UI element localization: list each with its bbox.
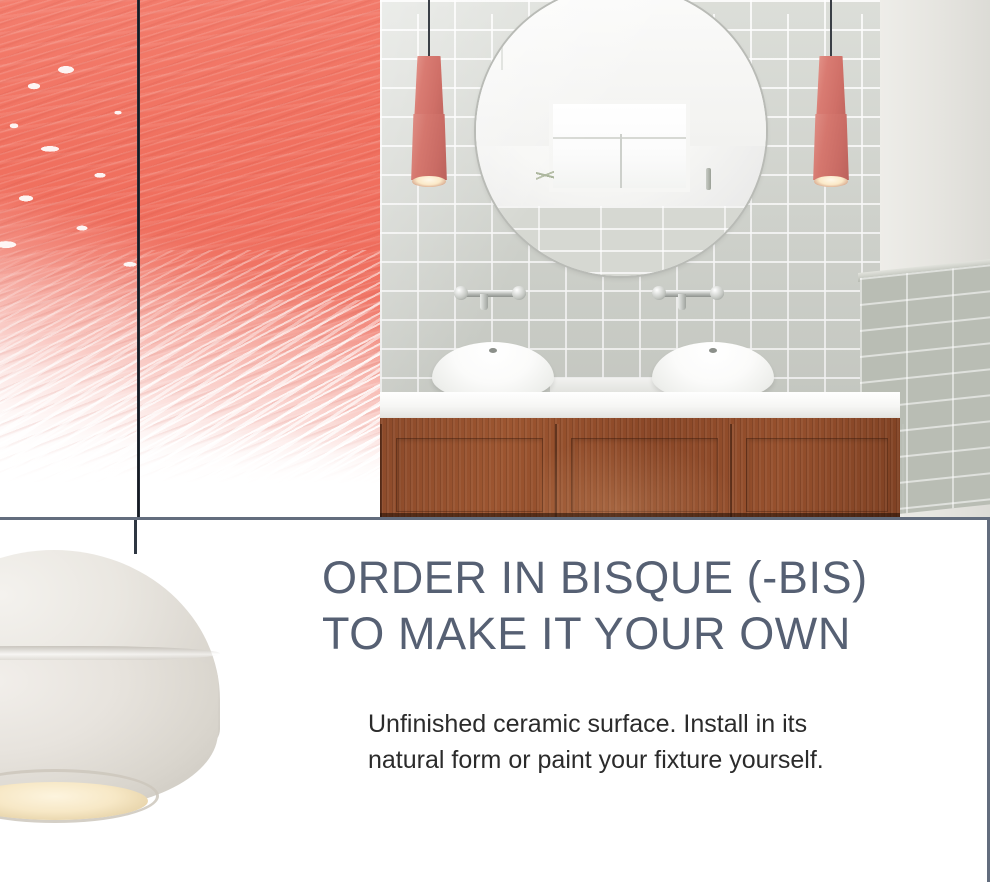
promo-text-block: ORDER IN BISQUE (-BIS) TO MAKE IT YOUR O…	[322, 550, 942, 778]
round-mirror	[476, 0, 766, 276]
wall-faucet-right	[652, 286, 724, 308]
bathroom-photo	[380, 0, 990, 518]
pendant-glow-rim	[412, 176, 446, 187]
pendant-cord-icon	[830, 0, 832, 58]
promo-page: ORDER IN BISQUE (-BIS) TO MAKE IT YOUR O…	[0, 0, 990, 882]
bisque-sphere-pendant	[0, 520, 228, 850]
horizontal-divider	[0, 517, 990, 520]
promo-body-line1: Unfinished ceramic surface. Install in i…	[322, 706, 942, 742]
walnut-vanity	[380, 418, 900, 518]
paint-fade-to-white	[0, 428, 380, 518]
pendant-shade-lower	[812, 114, 850, 180]
faucet-spout	[678, 294, 686, 310]
vanity-light-reflection	[540, 438, 740, 518]
faucet-spout	[480, 294, 488, 310]
pendant-cord-icon	[134, 518, 137, 554]
vanity-panel-inset	[746, 438, 888, 512]
mirror-mounting-bracket	[706, 168, 711, 190]
vanity-door-right	[730, 424, 904, 518]
faucet-handle-right	[710, 286, 724, 300]
pendant-shade-upper	[815, 56, 847, 118]
vanity-countertop	[380, 392, 900, 418]
bottom-content-row: ORDER IN BISQUE (-BIS) TO MAKE IT YOUR O…	[0, 520, 990, 882]
pendant-shade-lower	[410, 114, 448, 180]
page-title-line1: ORDER IN BISQUE (-BIS)	[322, 550, 942, 606]
text-spacer	[322, 662, 942, 706]
faucet-handle-right	[512, 286, 526, 300]
pendant-shade-upper	[413, 56, 445, 118]
pendant-diffuser-glow	[0, 782, 148, 820]
wall-faucet-left	[454, 286, 526, 308]
mirror-glass-sheen	[476, 0, 766, 276]
faucet-handle-left	[652, 286, 666, 300]
promo-body-line2: natural form or paint your fixture yours…	[322, 742, 942, 778]
pendant-cord-icon	[428, 0, 430, 58]
vanity-door-left	[380, 424, 559, 518]
vanity-panel-inset	[396, 438, 543, 512]
page-title-line2: TO MAKE IT YOUR OWN	[322, 606, 942, 662]
pendant-glow-rim	[814, 176, 848, 187]
faucet-handle-left	[454, 286, 468, 300]
panel-vertical-seam	[137, 0, 140, 518]
coral-paint-swatch-panel	[0, 0, 380, 518]
top-image-row	[0, 0, 990, 518]
